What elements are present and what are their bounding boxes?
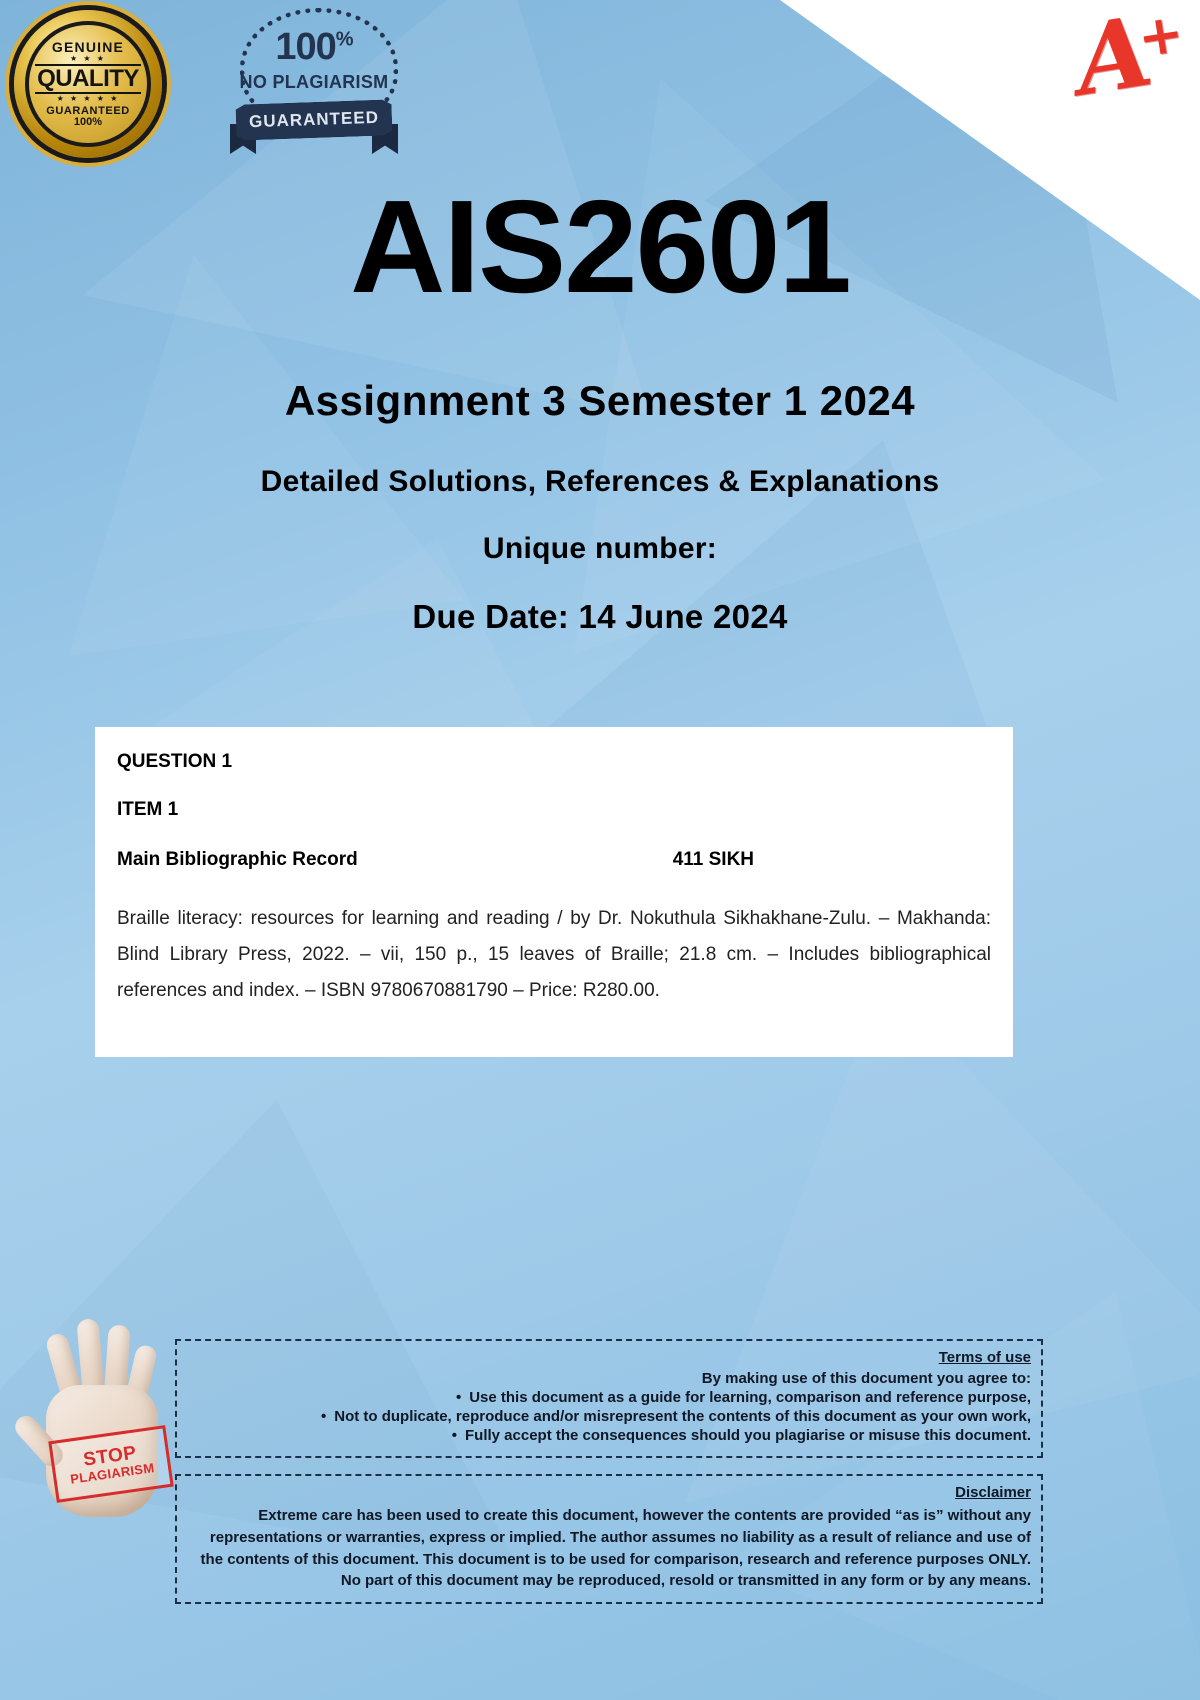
disclaimer-title: Disclaimer xyxy=(187,1484,1031,1501)
question-heading: QUESTION 1 xyxy=(117,751,991,773)
call-number: 411 SIKH xyxy=(673,849,754,871)
question-content-card: QUESTION 1 ITEM 1 Main Bibliographic Rec… xyxy=(95,727,1013,1057)
seal-line-quality: QUALITY xyxy=(35,64,141,94)
stamp-percent-value: 100 xyxy=(275,26,335,68)
stamp-no-plagiarism-text: NO PLAGIARISM xyxy=(226,72,402,93)
assignment-subtitle: Assignment 3 Semester 1 2024 xyxy=(0,377,1200,425)
seal-line-genuine: GENUINE xyxy=(52,40,124,54)
seal-stars-top: ★ ★ ★ xyxy=(70,55,106,63)
bullet-icon: • xyxy=(456,1389,461,1406)
seal-line-percent: 100% xyxy=(74,117,102,128)
document-page: A+ GENUINE ★ ★ ★ QUALITY ★ ★ ★ ★ ★ GUARA… xyxy=(0,0,1200,1700)
bullet-icon: • xyxy=(321,1408,326,1425)
disclaimer-box: Disclaimer Extreme care has been used to… xyxy=(175,1474,1043,1604)
bullet-icon: • xyxy=(452,1427,457,1444)
stamp-ribbon-guaranteed: GUARANTEED xyxy=(235,99,392,140)
terms-lead: By making use of this document you agree… xyxy=(187,1370,1031,1387)
terms-list-item: •Use this document as a guide for learni… xyxy=(187,1389,1031,1406)
unique-number-label: Unique number: xyxy=(0,532,1200,566)
terms-list-item: •Not to duplicate, reproduce and/or misr… xyxy=(187,1408,1031,1425)
terms-list: •Use this document as a guide for learni… xyxy=(187,1389,1031,1444)
seal-stars-bottom: ★ ★ ★ ★ ★ xyxy=(57,95,120,103)
terms-item-text: Not to duplicate, reproduce and/or misre… xyxy=(334,1408,1031,1425)
seal-inner: GENUINE ★ ★ ★ QUALITY ★ ★ ★ ★ ★ GUARANTE… xyxy=(25,21,151,147)
due-date-label: Due Date: 14 June 2024 xyxy=(0,598,1200,636)
terms-list-item: •Fully accept the consequences should yo… xyxy=(187,1427,1031,1444)
a-plus-grade-icon: A+ xyxy=(1069,0,1188,110)
stamp-percent-symbol: % xyxy=(336,28,353,50)
quality-guaranteed-seal-icon: GENUINE ★ ★ ★ QUALITY ★ ★ ★ ★ ★ GUARANTE… xyxy=(14,10,162,158)
bibliographic-record-text: Braille literacy: resources for learning… xyxy=(117,901,991,1009)
item-heading: ITEM 1 xyxy=(117,799,991,821)
no-plagiarism-stamp-icon: 100% NO PLAGIARISM GUARANTEED xyxy=(226,6,402,162)
record-label: Main Bibliographic Record xyxy=(117,849,358,871)
module-code-title: AIS2601 xyxy=(0,178,1200,317)
descriptor-subtitle: Detailed Solutions, References & Explana… xyxy=(0,465,1200,499)
disclaimer-body: Extreme care has been used to create thi… xyxy=(187,1505,1031,1592)
terms-item-text: Use this document as a guide for learnin… xyxy=(469,1389,1031,1406)
terms-item-text: Fully accept the consequences should you… xyxy=(465,1427,1031,1444)
stamp-percent: 100% xyxy=(226,28,402,66)
plagiarism-text: PLAGIARISM xyxy=(70,1461,156,1486)
title-block: AIS2601 Assignment 3 Semester 1 2024 Det… xyxy=(0,178,1200,636)
bibliographic-record-row: Main Bibliographic Record 411 SIKH xyxy=(117,849,991,871)
terms-of-use-box: Terms of use By making use of this docum… xyxy=(175,1339,1043,1458)
stop-plagiarism-hand-icon: STOP PLAGIARISM xyxy=(24,1315,194,1545)
terms-title: Terms of use xyxy=(187,1349,1031,1366)
